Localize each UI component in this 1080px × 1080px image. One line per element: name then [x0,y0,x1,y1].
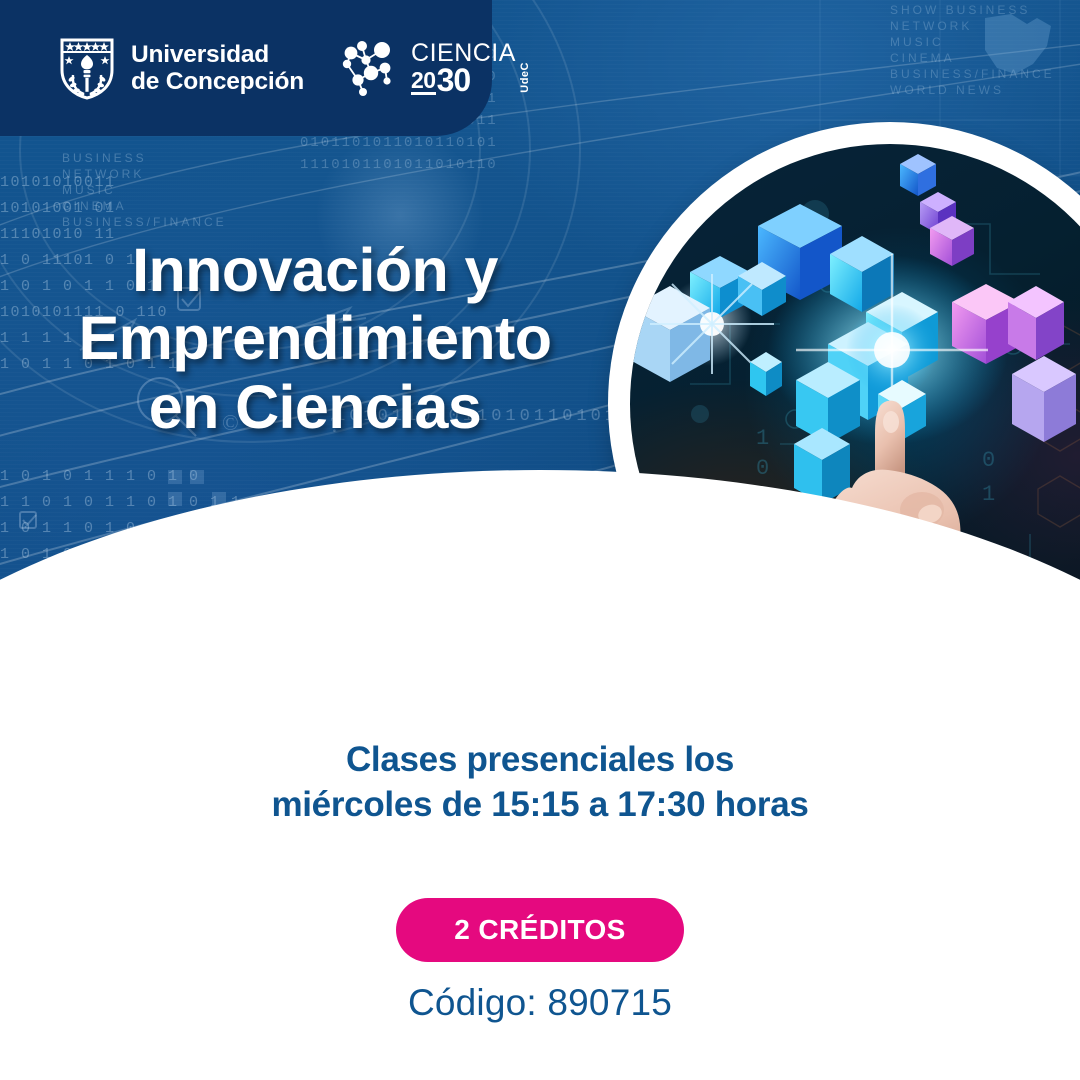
year-2030: 20 30 [411,66,470,95]
page-title: Innovación y Emprendimiento en Ciencias [30,236,600,441]
ciencia-2030-logo: CIENCIA 20 30 UdeC [338,37,531,99]
molecule-network-icon [338,37,402,99]
schedule-line-1: Clases presenciales los [0,738,1080,783]
udec-shield-icon [56,35,118,101]
svg-text:1: 1 [982,482,995,507]
title-line-2: Emprendimiento [30,304,600,372]
cube [900,154,936,196]
svg-text:1: 1 [756,426,769,451]
schedule-line-2: miércoles de 15:15 a 17:30 horas [0,783,1080,828]
udec-logo-line2: de Concepción [131,68,304,95]
udec-logo-line1: Universidad [131,41,304,68]
year-prefix-20: 20 [411,70,436,95]
title-line-3: en Ciencias [30,373,600,441]
schedule-text: Clases presenciales los miércoles de 15:… [0,738,1080,828]
ciencia-2030-stack: CIENCIA 20 30 [411,41,516,95]
udec-vertical-label: UdeC [519,62,531,93]
credits-badge-label: 2 CRÉDITOS [454,914,626,946]
svg-text:0: 0 [982,448,995,473]
poster-canvas: 10101010011 10101001 01 11101010 11 1 0 … [0,0,1080,1080]
logo-bar: Universidad de Concepción [56,32,531,104]
ciencia-2030-wordmark: CIENCIA 20 30 UdeC [411,41,531,95]
universidad-de-concepcion-logo: Universidad de Concepción [56,35,304,101]
svg-text:0: 0 [756,456,769,481]
course-code: Código: 890715 [0,982,1080,1024]
udec-logo-text: Universidad de Concepción [131,41,304,96]
year-suffix-30: 30 [437,66,471,95]
title-line-1: Innovación y [30,236,600,304]
credits-badge: 2 CRÉDITOS [396,898,684,962]
